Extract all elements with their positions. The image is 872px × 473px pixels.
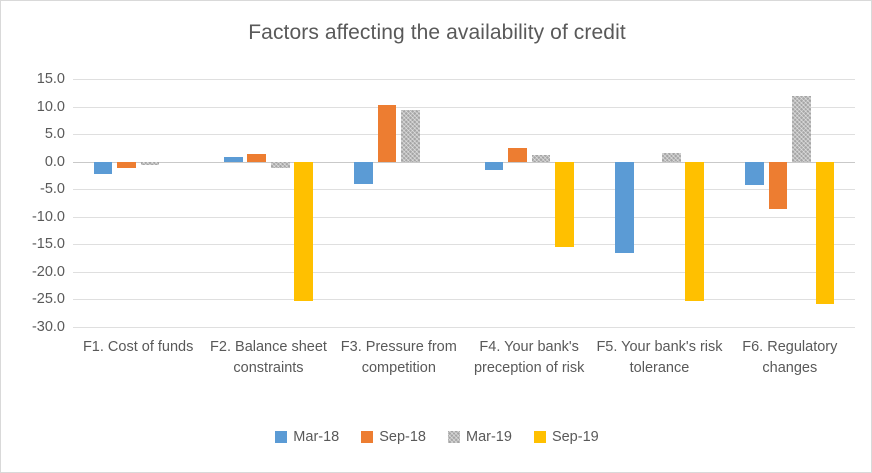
y-tick-label: -20.0: [1, 264, 65, 280]
bar-group: [594, 79, 724, 327]
legend-swatch-icon: [448, 431, 460, 443]
x-tick-label: F4. Your bank's preception of risk: [464, 337, 594, 379]
bar[interactable]: [294, 162, 313, 301]
x-tick-label: F2. Balance sheet constraints: [203, 337, 333, 379]
bar[interactable]: [485, 162, 504, 170]
y-tick-label: 10.0: [1, 99, 65, 115]
bar[interactable]: [555, 162, 574, 247]
legend-label: Mar-18: [293, 429, 339, 445]
bar[interactable]: [94, 162, 113, 175]
bar[interactable]: [769, 162, 788, 209]
x-axis: F1. Cost of fundsF2. Balance sheet const…: [73, 337, 855, 419]
bar[interactable]: [792, 96, 811, 162]
bar[interactable]: [615, 162, 634, 253]
bar-group: [73, 79, 203, 327]
bar[interactable]: [745, 162, 764, 186]
legend-swatch-icon: [534, 431, 546, 443]
legend-item[interactable]: Mar-18: [275, 429, 339, 445]
bar[interactable]: [271, 162, 290, 169]
bar[interactable]: [401, 110, 420, 162]
y-tick-label: -30.0: [1, 319, 65, 335]
plot-area: [73, 79, 855, 327]
bar[interactable]: [141, 162, 160, 165]
legend-item[interactable]: Sep-18: [361, 429, 426, 445]
bar[interactable]: [117, 162, 136, 168]
y-axis: 15.010.05.00.0-5.0-10.0-15.0-20.0-25.0-3…: [1, 79, 65, 327]
y-tick-label: 0.0: [1, 154, 65, 170]
x-tick-label: F5. Your bank's risk tolerance: [594, 337, 724, 379]
y-tick-label: -15.0: [1, 236, 65, 252]
y-tick-label: -25.0: [1, 291, 65, 307]
legend-item[interactable]: Mar-19: [448, 429, 512, 445]
bar[interactable]: [662, 153, 681, 161]
gridline: [73, 327, 855, 328]
bar-group: [334, 79, 464, 327]
bar[interactable]: [685, 162, 704, 301]
legend-item[interactable]: Sep-19: [534, 429, 599, 445]
chart-title: Factors affecting the availability of cr…: [1, 21, 872, 45]
bar[interactable]: [354, 162, 373, 184]
bar[interactable]: [224, 157, 243, 161]
bar-group: [725, 79, 855, 327]
legend-label: Sep-18: [379, 429, 426, 445]
bar-group: [203, 79, 333, 327]
y-tick-label: 15.0: [1, 71, 65, 87]
bar-group: [464, 79, 594, 327]
bar[interactable]: [532, 155, 551, 162]
x-tick-label: F1. Cost of funds: [73, 337, 203, 358]
x-tick-label: F6. Regulatory changes: [725, 337, 855, 379]
bar[interactable]: [816, 162, 835, 304]
bar[interactable]: [378, 105, 397, 162]
chart-container: Factors affecting the availability of cr…: [0, 0, 872, 473]
bar[interactable]: [508, 148, 527, 161]
y-tick-label: -5.0: [1, 181, 65, 197]
legend-label: Mar-19: [466, 429, 512, 445]
bar[interactable]: [247, 154, 266, 162]
legend-swatch-icon: [275, 431, 287, 443]
y-tick-label: -10.0: [1, 209, 65, 225]
legend-label: Sep-19: [552, 429, 599, 445]
legend-swatch-icon: [361, 431, 373, 443]
x-tick-label: F3. Pressure from competition: [334, 337, 464, 379]
chart-legend[interactable]: Mar-18Sep-18Mar-19Sep-19: [1, 429, 872, 445]
y-tick-label: 5.0: [1, 126, 65, 142]
